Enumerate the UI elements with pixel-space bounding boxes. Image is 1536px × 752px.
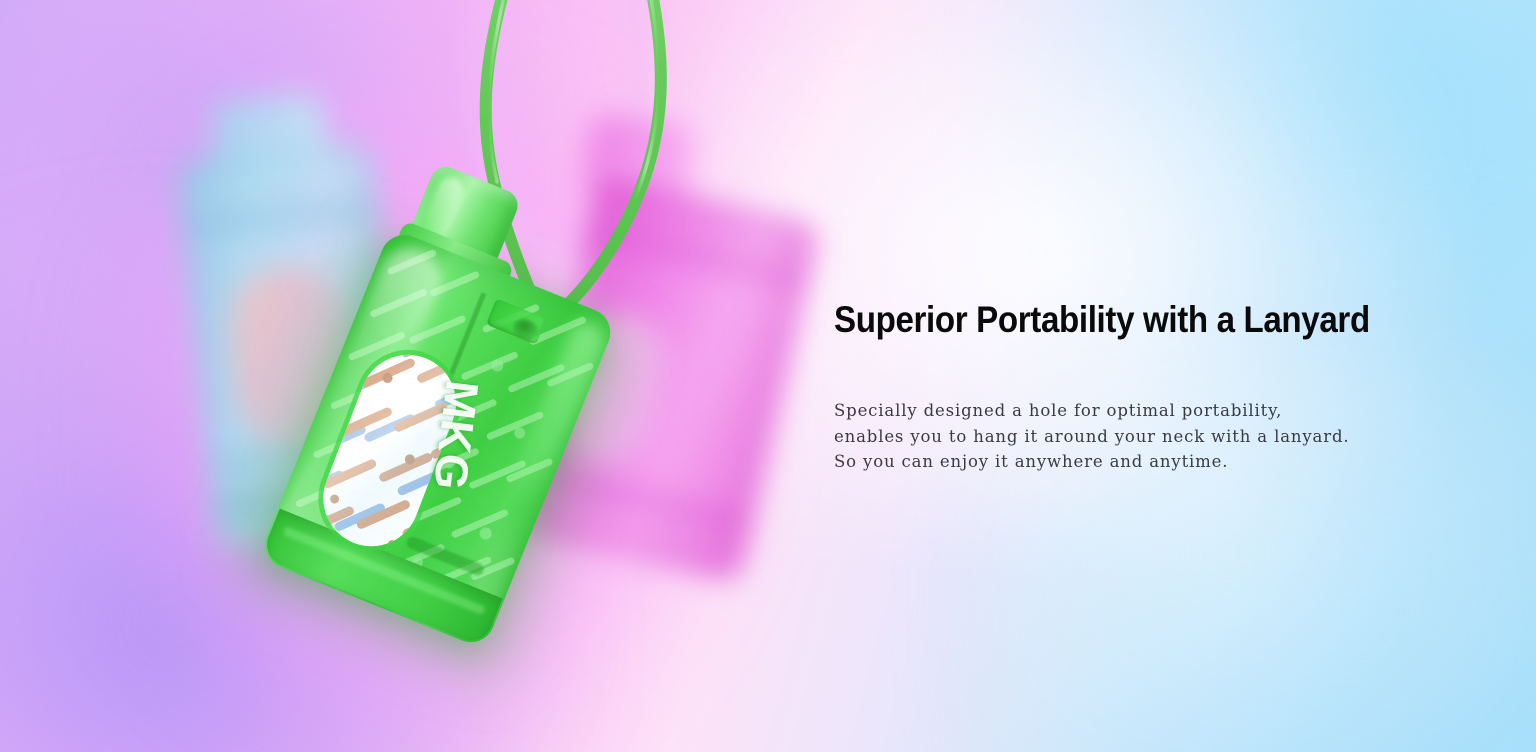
copy-block: Superior Portability with a Lanyard Spec… — [834, 298, 1434, 475]
promo-banner: MKG — [0, 0, 1536, 752]
page-title: Superior Portability with a Lanyard — [834, 298, 1371, 342]
page-description: Specially designed a hole for optimal po… — [834, 398, 1434, 475]
